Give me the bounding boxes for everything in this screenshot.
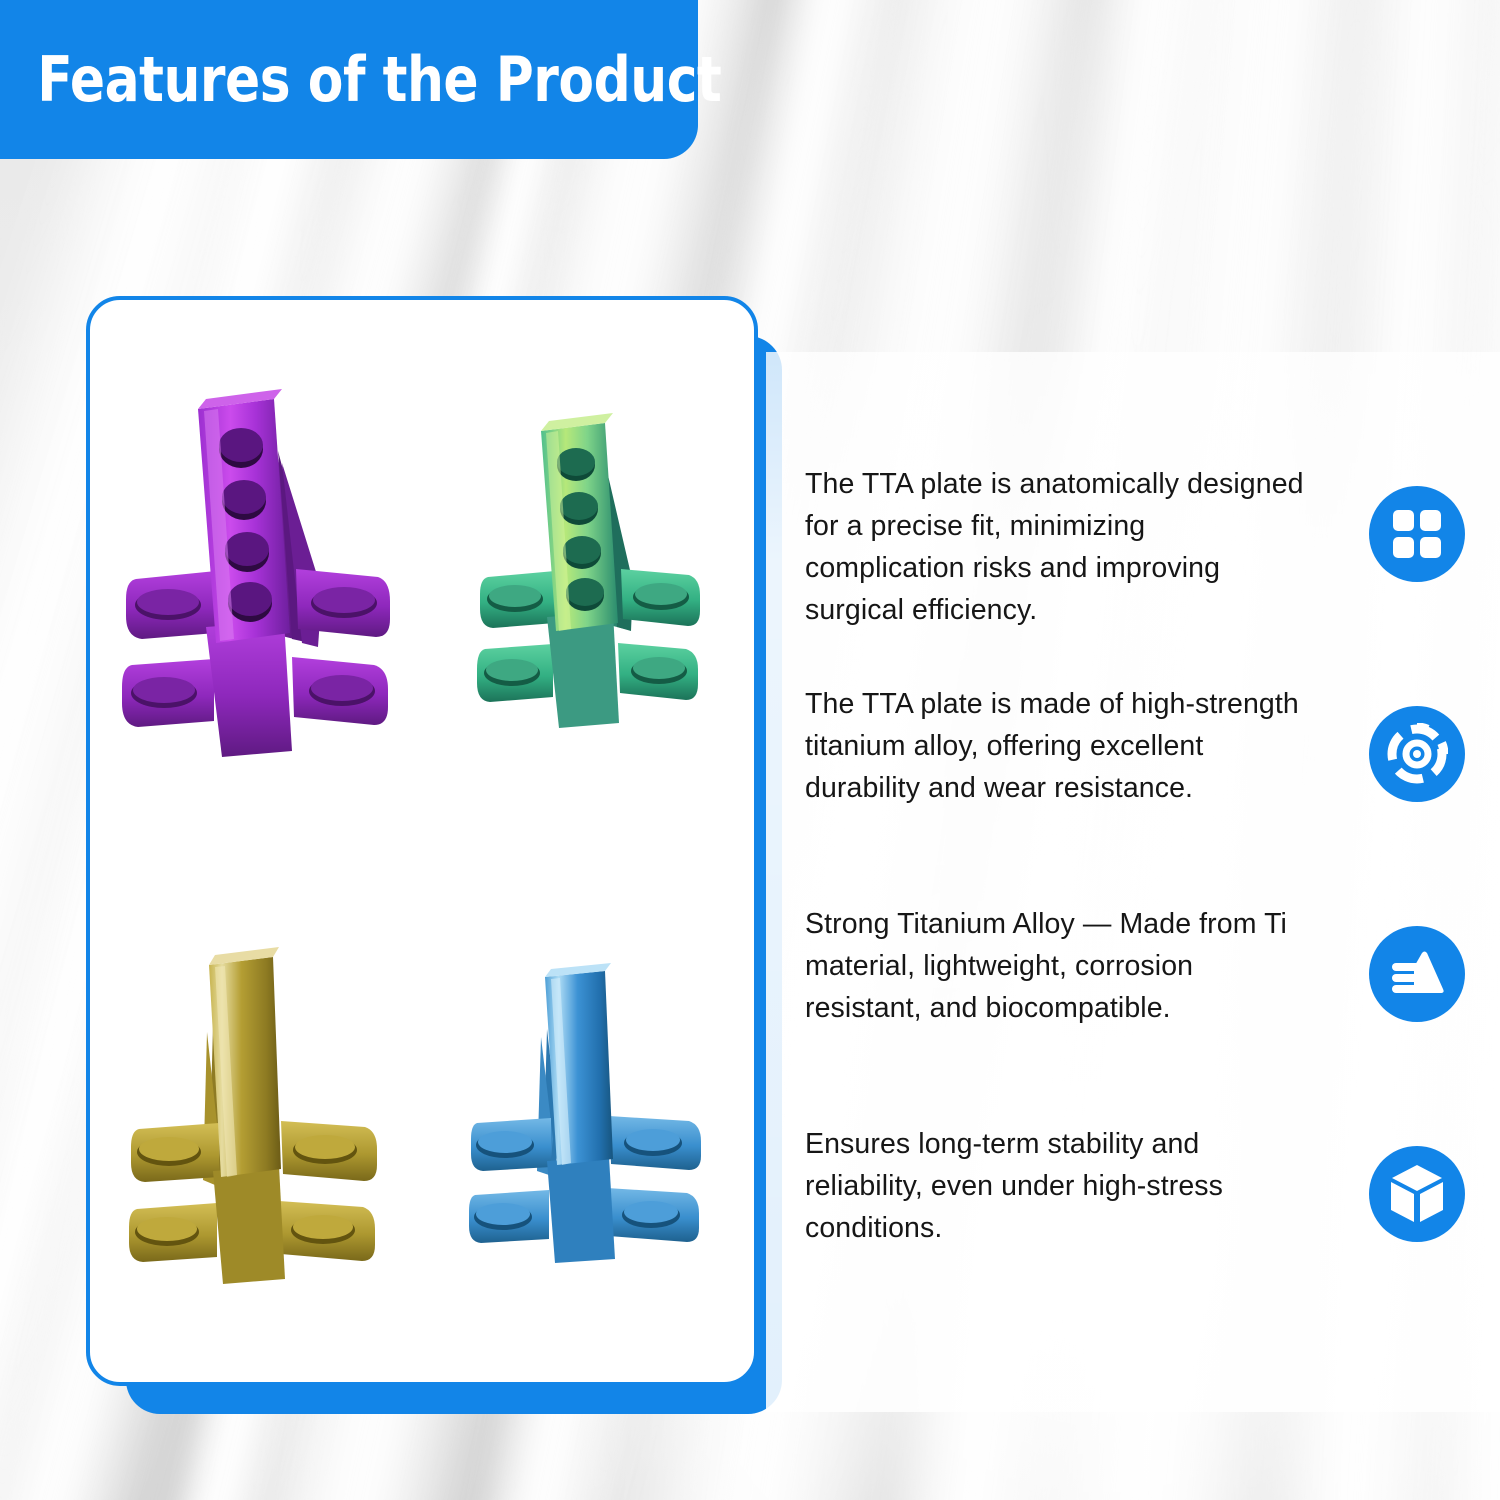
purple-tta-plate bbox=[106, 371, 406, 771]
grid-squares-icon bbox=[1369, 486, 1465, 582]
plate-cell-green bbox=[422, 300, 754, 841]
product-card-container bbox=[86, 296, 782, 1414]
feature-text-3: Strong Titanium Alloy — Made from Ti mat… bbox=[805, 902, 1305, 1030]
green-tta-plate bbox=[463, 401, 713, 741]
strength-layers-icon bbox=[1369, 926, 1465, 1022]
plate-cell-blue bbox=[422, 841, 754, 1382]
product-image-card bbox=[86, 296, 758, 1386]
target-crosshair-icon bbox=[1369, 706, 1465, 802]
blue-tta-plate bbox=[463, 957, 713, 1267]
feature-list: The TTA plate is anatomically designed f… bbox=[805, 462, 1465, 1342]
plate-cell-gold bbox=[90, 841, 422, 1382]
feature-item-2: The TTA plate is made of high-strength t… bbox=[805, 682, 1465, 902]
plate-cell-purple bbox=[90, 300, 422, 841]
page-title: Features of the Product bbox=[0, 43, 721, 116]
feature-text-2: The TTA plate is made of high-strength t… bbox=[805, 682, 1305, 810]
feature-item-1: The TTA plate is anatomically designed f… bbox=[805, 462, 1465, 682]
header-banner: Features of the Product bbox=[0, 0, 698, 159]
feature-text-1: The TTA plate is anatomically designed f… bbox=[805, 462, 1305, 632]
infographic-page: Features of the Product bbox=[0, 0, 1500, 1500]
feature-item-3: Strong Titanium Alloy — Made from Ti mat… bbox=[805, 902, 1465, 1122]
gold-tta-plate bbox=[121, 937, 391, 1287]
feature-item-4: Ensures long-term stability and reliabil… bbox=[805, 1122, 1465, 1342]
cube-box-icon bbox=[1369, 1146, 1465, 1242]
feature-text-4: Ensures long-term stability and reliabil… bbox=[805, 1122, 1305, 1250]
